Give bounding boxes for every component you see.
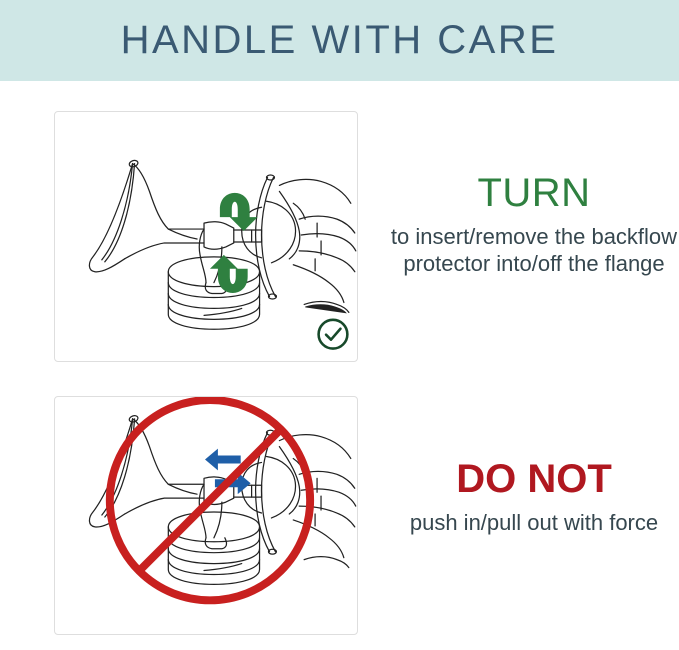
body-text-do-not: push in/pull out with force [389,510,679,537]
instruction-block-do-not: DO NOT push in/pull out with force [389,458,679,537]
pump-do-not-illustration [55,397,357,634]
body-text-turn: to insert/remove the backflow protector … [389,224,679,278]
illustration-panel-turn [54,111,358,362]
instruction-block-turn: TURN to insert/remove the backflow prote… [389,172,679,278]
header-band: HANDLE WITH CARE [0,0,679,81]
check-mark-icon [319,320,348,349]
illustration-panel-do-not [54,396,358,635]
pump-turn-illustration [55,112,357,361]
page-title: HANDLE WITH CARE [121,18,559,63]
headline-do-not: DO NOT [389,458,679,500]
headline-turn: TURN [389,172,679,214]
